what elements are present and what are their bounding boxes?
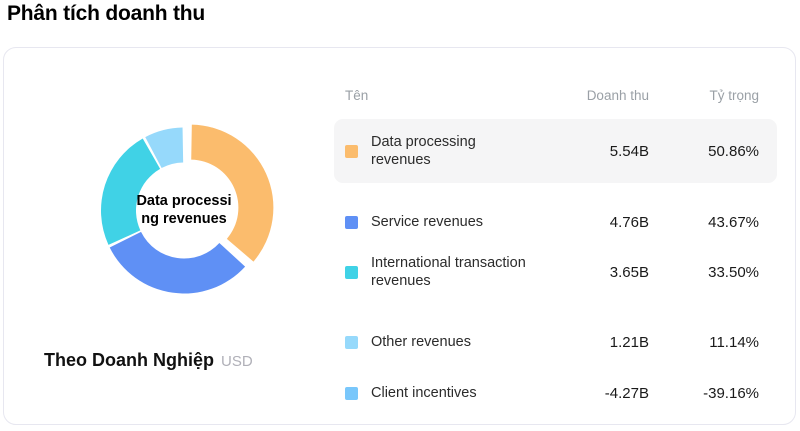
page-title: Phân tích doanh thu bbox=[7, 2, 205, 26]
table-cell-revenue: 1.21B bbox=[537, 334, 655, 351]
table-cell-revenue: -4.27B bbox=[537, 385, 655, 402]
revenue-analysis-card: Data processing revenues Theo Doanh Nghi… bbox=[3, 47, 796, 425]
table-header-weight: Tỷ trọng bbox=[655, 88, 777, 103]
series-name-label: International transaction revenues bbox=[371, 254, 537, 290]
donut-chart-area: Data processing revenues Theo Doanh Nghi… bbox=[4, 48, 334, 426]
table-row[interactable]: International transaction revenues3.65B3… bbox=[334, 240, 777, 304]
donut-chart-svg bbox=[89, 123, 279, 298]
table-cell-weight: -39.16% bbox=[655, 385, 777, 402]
chart-footer-unit: USD bbox=[221, 353, 253, 370]
table-cell-name: Other revenues bbox=[334, 333, 537, 351]
table-cell-name: Service revenues bbox=[334, 213, 537, 231]
series-name-label: Other revenues bbox=[371, 333, 471, 351]
table-cell-weight: 50.86% bbox=[655, 143, 777, 160]
chart-footer-title: Theo Doanh Nghiệp bbox=[44, 350, 214, 371]
table-cell-weight: 43.67% bbox=[655, 214, 777, 231]
table-cell-revenue: 4.76B bbox=[537, 214, 655, 231]
donut-slice[interactable] bbox=[110, 232, 245, 294]
table-header-row: Tên Doanh thu Tỷ trọng bbox=[334, 84, 777, 106]
table-cell-weight: 33.50% bbox=[655, 264, 777, 281]
table-header-revenue: Doanh thu bbox=[537, 88, 655, 103]
breakdown-table: Tên Doanh thu Tỷ trọng Data processing r… bbox=[334, 48, 781, 426]
series-color-swatch-icon bbox=[345, 216, 358, 229]
series-name-label: Service revenues bbox=[371, 213, 483, 231]
series-name-label: Client incentives bbox=[371, 384, 477, 402]
donut-chart[interactable]: Data processing revenues bbox=[89, 123, 279, 298]
chart-footer: Theo Doanh Nghiệp USD bbox=[44, 350, 253, 371]
table-row[interactable]: Data processing revenues5.54B50.86% bbox=[334, 119, 777, 183]
table-cell-revenue: 5.54B bbox=[537, 143, 655, 160]
series-name-label: Data processing revenues bbox=[371, 133, 537, 169]
series-color-swatch-icon bbox=[345, 266, 358, 279]
donut-slice[interactable] bbox=[101, 138, 160, 244]
table-cell-weight: 11.14% bbox=[655, 334, 777, 351]
series-color-swatch-icon bbox=[345, 145, 358, 158]
series-color-swatch-icon bbox=[345, 387, 358, 400]
table-cell-name: Data processing revenues bbox=[334, 133, 537, 169]
table-cell-name: Client incentives bbox=[334, 384, 537, 402]
series-color-swatch-icon bbox=[345, 336, 358, 349]
table-header-name-label: Tên bbox=[345, 88, 368, 103]
table-cell-revenue: 3.65B bbox=[537, 264, 655, 281]
table-header-name: Tên bbox=[334, 88, 537, 103]
donut-slice[interactable] bbox=[191, 125, 273, 262]
table-cell-name: International transaction revenues bbox=[334, 254, 537, 290]
table-row[interactable]: Client incentives-4.27B-39.16% bbox=[334, 361, 777, 425]
